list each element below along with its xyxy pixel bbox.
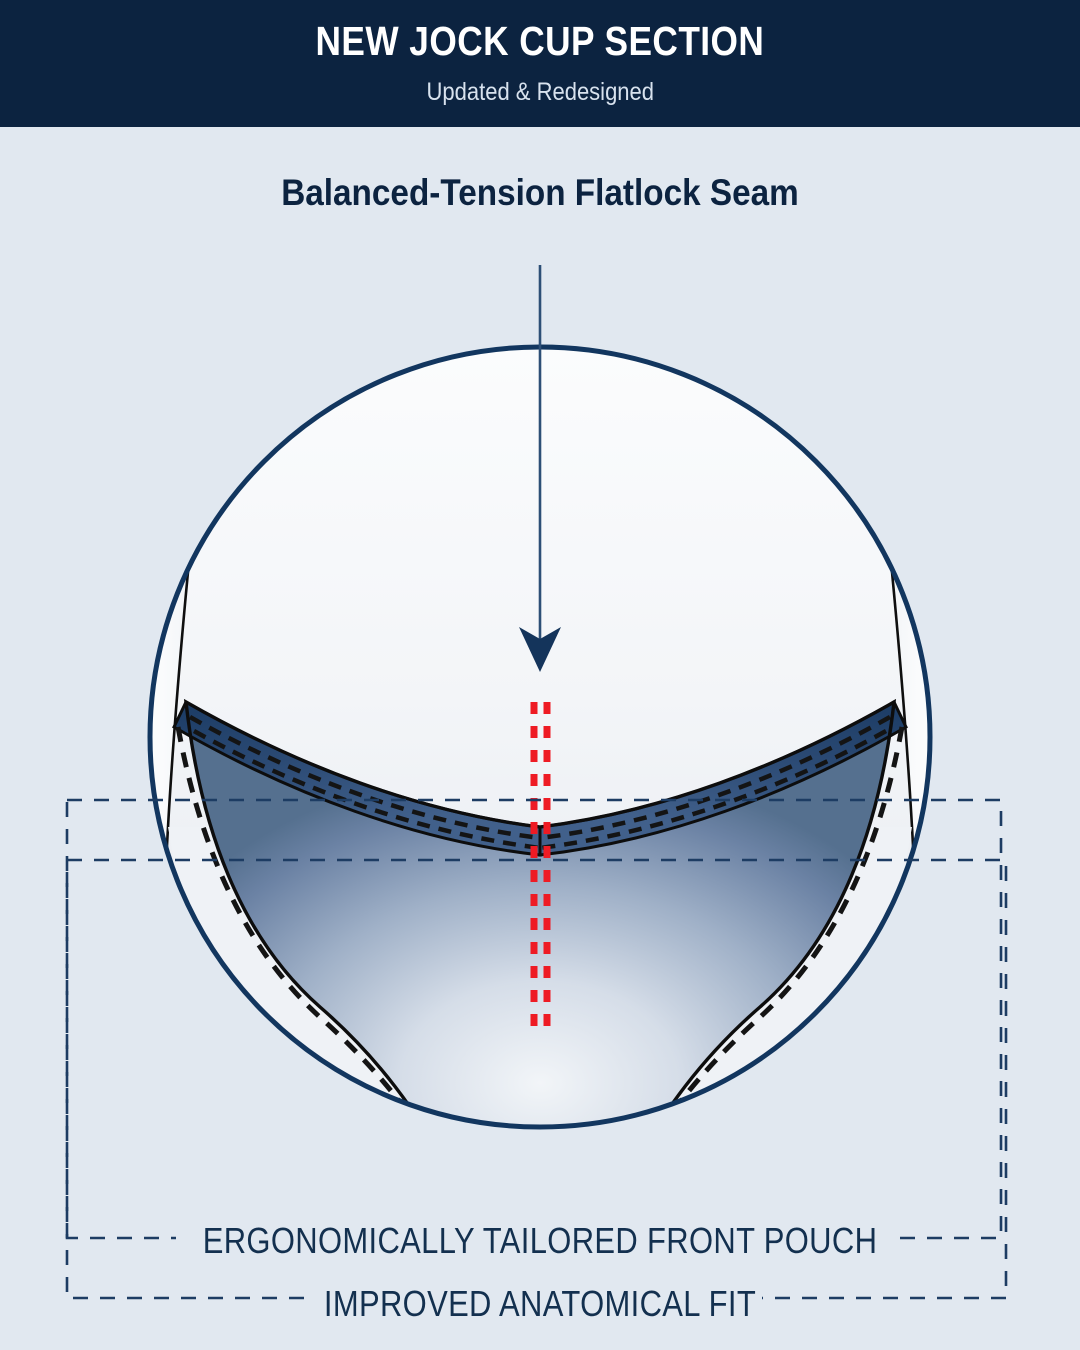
callout-label-pouch: ERGONOMICALLY TAILORED FRONT POUCH	[76, 1220, 1005, 1262]
diagram-stage	[0, 127, 1080, 1350]
page-subtitle: Updated & Redesigned	[426, 78, 654, 107]
callout-label-fit: IMPROVED ANATOMICAL FIT	[76, 1283, 1005, 1325]
jock-cup-technical-illustration	[0, 127, 1080, 1350]
page-title: NEW JOCK CUP SECTION	[316, 20, 765, 63]
header-banner: NEW JOCK CUP SECTION Updated & Redesigne…	[0, 0, 1080, 127]
